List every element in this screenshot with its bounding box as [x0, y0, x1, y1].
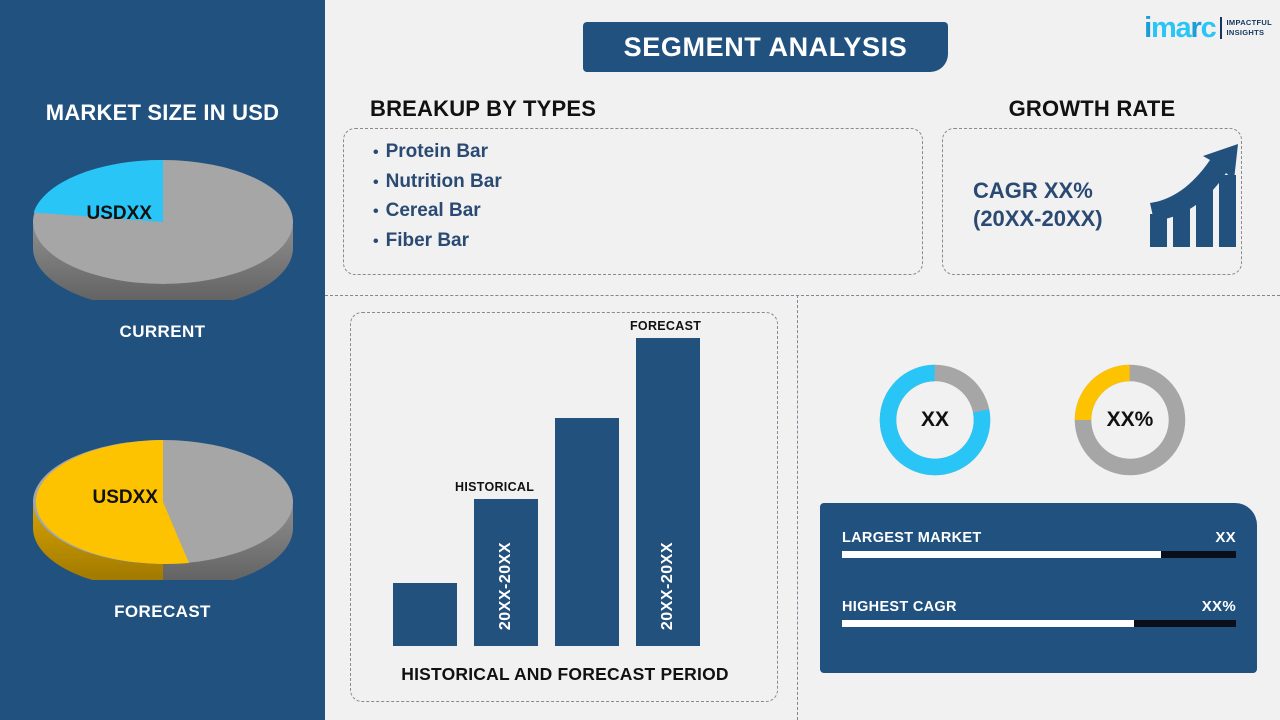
pie-current-svg: [29, 150, 297, 300]
stat-1-head: LARGEST MARKET XX: [842, 529, 1236, 546]
bar-4: 20XX-20XX: [636, 338, 700, 646]
logo-letter-c: c: [1201, 12, 1216, 44]
logo-letter-m: m: [1151, 12, 1176, 44]
type-label: Cereal Bar: [386, 197, 481, 226]
pie-current-caption: CURRENT: [0, 322, 325, 342]
stat-highest-cagr: HIGHEST CAGR XX%: [842, 598, 1236, 627]
imarc-logo: imarc IMPACTFUL INSIGHTS: [1144, 10, 1272, 46]
logo-tagline-line1: IMPACTFUL: [1227, 18, 1272, 28]
list-item: •Protein Bar: [373, 138, 502, 168]
sidebar-title: MARKET SIZE IN USD: [0, 100, 325, 126]
type-label: Nutrition Bar: [386, 168, 502, 197]
cagr-text: CAGR XX% (20XX-20XX): [973, 177, 1103, 233]
bar-4-label: 20XX-20XX: [659, 542, 677, 630]
type-label: Fiber Bar: [386, 227, 469, 256]
growth-arrow-bars-icon: [1148, 142, 1244, 252]
bar-2-label: 20XX-20XX: [497, 542, 515, 630]
breakup-by-types-title: BREAKUP BY TYPES: [370, 96, 596, 122]
pie-current-stage: USDXX: [29, 150, 297, 300]
bar-2: 20XX-20XX: [474, 499, 538, 646]
logo-wordmark: imarc: [1144, 14, 1215, 43]
logo-letter-a: a: [1176, 12, 1191, 44]
bar-1: [393, 583, 457, 646]
cagr-line-2: (20XX-20XX): [973, 205, 1103, 233]
donut-chart-1: XX: [873, 358, 997, 482]
logo-divider-icon: [1220, 17, 1222, 39]
cagr-line-1: CAGR XX%: [973, 177, 1103, 205]
pie-current-value: USDXX: [87, 203, 152, 225]
sidebar: MARKET SIZE IN USD: [0, 0, 325, 720]
logo-letter-r: r: [1190, 12, 1200, 44]
main-panel: SEGMENT ANALYSIS imarc IMPACTFUL INSIGHT…: [325, 0, 1280, 720]
historical-forecast-chart: 20XX-20XX 20XX-20XX HISTORICAL FORECAST …: [350, 312, 778, 702]
pie-forecast-caption: FORECAST: [0, 602, 325, 622]
banner-title: SEGMENT ANALYSIS: [624, 32, 908, 63]
stat-2-track: [842, 620, 1236, 627]
bullet-icon: •: [373, 198, 379, 227]
segment-analysis-banner: SEGMENT ANALYSIS: [583, 22, 948, 72]
bar-2-top-label: HISTORICAL: [455, 480, 534, 494]
stat-1-value: XX: [1215, 529, 1236, 546]
growth-rate-title: GROWTH RATE: [942, 96, 1242, 122]
pie-forecast-value: USDXX: [93, 487, 158, 509]
stat-1-label: LARGEST MARKET: [842, 530, 982, 546]
stat-1-track: [842, 551, 1236, 558]
bar-chart-axis-label: HISTORICAL AND FORECAST PERIOD: [351, 664, 779, 685]
donut-chart-2: XX%: [1068, 358, 1192, 482]
logo-tagline: IMPACTFUL INSIGHTS: [1227, 18, 1272, 38]
bar-3: [555, 418, 619, 646]
list-item: •Nutrition Bar: [373, 168, 502, 198]
stat-2-label: HIGHEST CAGR: [842, 599, 957, 615]
logo-letter-i: i: [1144, 12, 1151, 44]
stat-largest-market: LARGEST MARKET XX: [842, 529, 1236, 558]
bar-4-top-label: FORECAST: [630, 319, 701, 333]
pie-forecast-svg: [29, 430, 297, 580]
bullet-icon: •: [373, 169, 379, 198]
vertical-divider: [797, 295, 798, 720]
market-stats-card: LARGEST MARKET XX HIGHEST CAGR XX%: [820, 503, 1257, 673]
stat-2-head: HIGHEST CAGR XX%: [842, 598, 1236, 615]
stat-2-fill: [842, 620, 1134, 627]
list-item: •Fiber Bar: [373, 227, 502, 257]
bullet-icon: •: [373, 139, 379, 168]
pie-chart-current: USDXX CURRENT: [0, 150, 325, 342]
type-label: Protein Bar: [386, 138, 488, 167]
types-list: •Protein Bar •Nutrition Bar •Cereal Bar …: [373, 138, 502, 256]
list-item: •Cereal Bar: [373, 197, 502, 227]
logo-tagline-line2: INSIGHTS: [1227, 28, 1272, 38]
infographic-root: MARKET SIZE IN USD: [0, 0, 1280, 720]
donut-2-value: XX%: [1068, 358, 1192, 482]
pie-forecast-stage: USDXX: [29, 430, 297, 580]
donut-1-value: XX: [873, 358, 997, 482]
stat-2-value: XX%: [1202, 598, 1236, 615]
pie-chart-forecast: USDXX FORECAST: [0, 430, 325, 622]
bullet-icon: •: [373, 228, 379, 257]
bar-plot-area: 20XX-20XX 20XX-20XX HISTORICAL FORECAST: [393, 326, 743, 646]
stat-1-fill: [842, 551, 1161, 558]
horizontal-divider: [325, 295, 1280, 296]
